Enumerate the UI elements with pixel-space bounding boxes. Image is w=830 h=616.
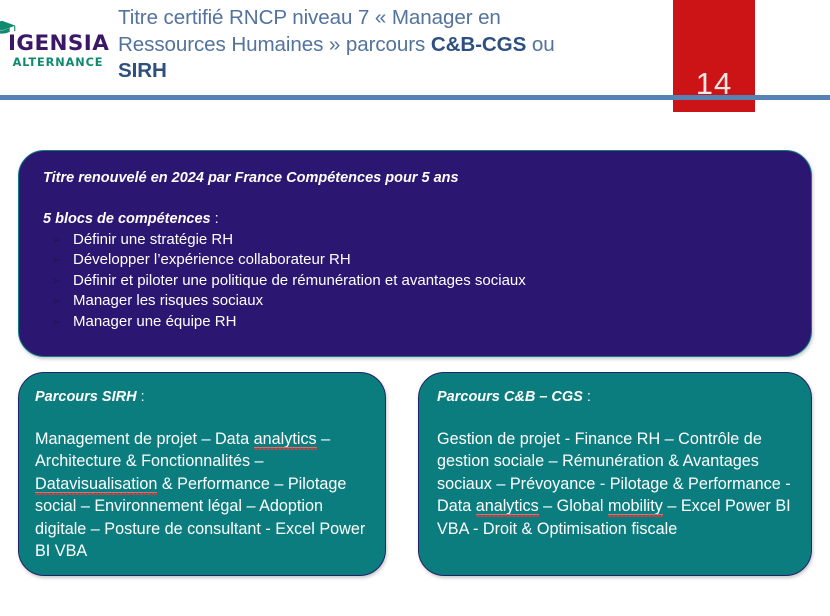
logo-wordmark: IGENSIA	[8, 33, 108, 55]
parcours-cb-cgs-body: Gestion de projet - Finance RH – Contrôl…	[437, 428, 793, 540]
parcours-cb-cgs-heading-text: Parcours C&B – CGS	[437, 389, 583, 405]
logo-subtitle: ALTERNANCE	[8, 57, 108, 68]
arrow-bullet-icon: ➢	[51, 231, 62, 251]
list-item-label: Manager une équipe RH	[73, 313, 236, 330]
list-item: ➢ Manager les risques sociaux	[43, 291, 787, 311]
slide-canvas: IGENSIA ALTERNANCE Titre certifié RNCP n…	[0, 0, 830, 616]
title-line-1: Titre certifié RNCP niveau 7 « Manager e…	[118, 6, 501, 29]
title-line-2-suffix: ou	[526, 33, 554, 56]
page-title: Titre certifié RNCP niveau 7 « Manager e…	[118, 5, 666, 85]
parcours-cb-cgs-card: Parcours C&B – CGS : Gestion de projet -…	[418, 372, 812, 576]
igensia-logo: IGENSIA ALTERNANCE	[8, 20, 108, 68]
competency-blocks-heading: 5 blocs de compétences :	[43, 210, 787, 229]
misspelled-word: Datavisualisation	[35, 475, 157, 493]
list-item-label: Manager les risques sociaux	[73, 292, 263, 309]
list-item: ➢ Définir une stratégie RH	[43, 230, 787, 250]
parcours-sirh-heading-colon: :	[137, 389, 145, 405]
list-item: ➢ Développer l’expérience collaborateur …	[43, 250, 787, 270]
graduation-cap-icon	[0, 20, 16, 34]
list-item: ➢ Définir et piloter une politique de ré…	[43, 271, 787, 291]
arrow-bullet-icon: ➢	[51, 272, 62, 292]
parcours-sirh-heading-text: Parcours SIRH	[35, 389, 137, 405]
arrow-bullet-icon: ➢	[51, 292, 62, 312]
misspelled-word: mobility	[608, 497, 663, 515]
competency-blocks-list: ➢ Définir une stratégie RH ➢ Développer …	[43, 230, 787, 332]
list-item-label: Développer l’expérience collaborateur RH	[73, 251, 351, 268]
list-item-label: Définir une stratégie RH	[73, 231, 233, 248]
arrow-bullet-icon: ➢	[51, 251, 62, 271]
parcours-sirh-card: Parcours SIRH : Management de projet – D…	[18, 372, 386, 576]
title-line-3-bold: SIRH	[118, 59, 167, 82]
certification-info-card: Titre renouvelé en 2024 par France Compé…	[18, 150, 812, 357]
header-divider-rule	[0, 95, 830, 100]
competency-blocks-heading-colon: :	[211, 211, 219, 227]
misspelled-word: analytics	[476, 497, 539, 515]
parcours-sirh-heading: Parcours SIRH :	[35, 388, 367, 407]
title-line-2-prefix: Ressources Humaines » parcours	[118, 33, 431, 56]
list-item-label: Définir et piloter une politique de rému…	[73, 272, 526, 289]
renewal-heading: Titre renouvelé en 2024 par France Compé…	[43, 169, 787, 188]
arrow-bullet-icon: ➢	[51, 313, 62, 333]
slide-header: IGENSIA ALTERNANCE Titre certifié RNCP n…	[0, 0, 830, 112]
misspelled-word: analytics	[254, 430, 317, 448]
parcours-cb-cgs-heading: Parcours C&B – CGS :	[437, 388, 793, 407]
competency-blocks-heading-text: 5 blocs de compétences	[43, 211, 211, 227]
parcours-cb-cgs-heading-colon: :	[583, 389, 591, 405]
parcours-sirh-body: Management de projet – Data analytics – …	[35, 428, 367, 562]
title-line-2-bold: C&B-CGS	[431, 33, 526, 56]
list-item: ➢ Manager une équipe RH	[43, 312, 787, 332]
